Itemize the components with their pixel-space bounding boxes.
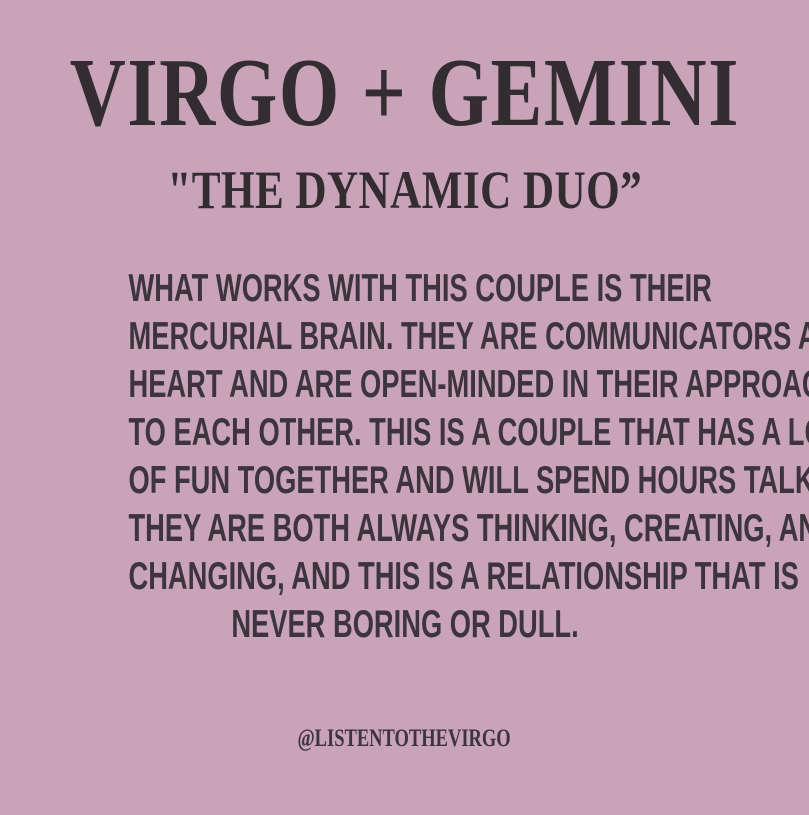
body-line: WHAT WORKS WITH THIS COUPLE IS THEIR [128,265,681,313]
body-line: THEY ARE BOTH ALWAYS THINKING, CREATING,… [128,505,681,553]
body-line: NEVER BORING OR DULL. [128,601,681,649]
page-title: VIRGO + GEMINI [69,44,739,141]
body-text: WHAT WORKS WITH THIS COUPLE IS THEIR MER… [10,265,800,649]
body-line: CHANGING, AND THIS IS A RELATIONSHIP THA… [128,553,681,601]
subtitle: "THE DYNAMIC DUO” [167,163,642,217]
author-handle: @LISTENTOTHEVIRGO [0,726,809,751]
body-line: HEART AND ARE OPEN-MINDED IN THEIR APPRO… [128,361,681,409]
body-line: MERCURIAL BRAIN. THEY ARE COMMUNICATORS … [128,313,681,361]
author-handle-text: @LISTENTOTHEVIRGO [298,726,511,751]
body-line: TO EACH OTHER. THIS IS A COUPLE THAT HAS… [128,409,681,457]
quote-card: VIRGO + GEMINI "THE DYNAMIC DUO” WHAT WO… [0,0,809,815]
body-line: OF FUN TOGETHER AND WILL SPEND HOURS TAL… [128,457,681,505]
